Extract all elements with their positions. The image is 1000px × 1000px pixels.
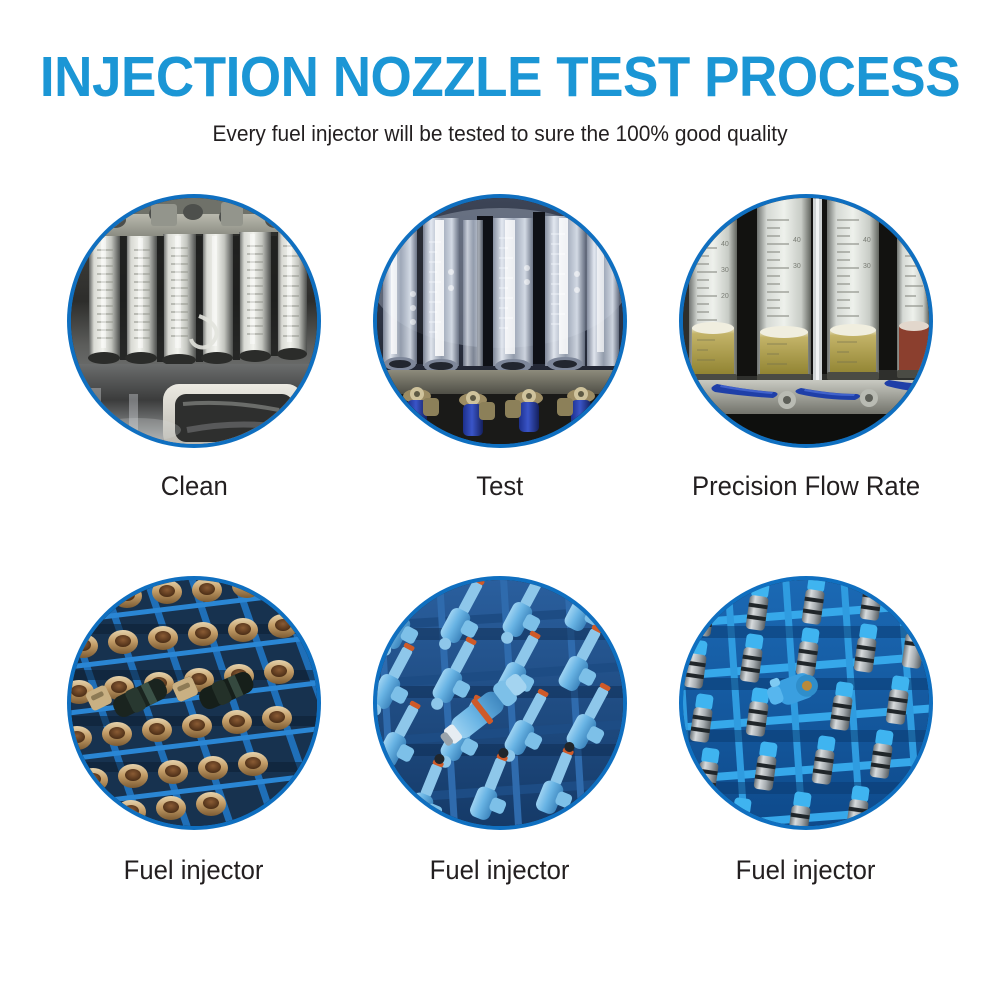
process-row-top: Clean bbox=[0, 198, 1000, 502]
step-label-test: Test bbox=[476, 470, 523, 502]
step-label-fuel-injector-blue: Fuel injector bbox=[430, 854, 570, 886]
injector-spray-test-tubes-photo bbox=[377, 198, 623, 444]
photo-frame-fuel-injector-blue bbox=[377, 580, 623, 826]
svg-text:30: 30 bbox=[863, 263, 871, 270]
photo-frame-clean bbox=[71, 198, 317, 444]
svg-text:30: 30 bbox=[721, 267, 729, 274]
svg-text:40: 40 bbox=[863, 237, 871, 244]
process-grid: Clean bbox=[0, 198, 1000, 886]
brass-top-injectors-tray-photo bbox=[71, 580, 317, 826]
steel-body-injectors-tray-photo bbox=[683, 580, 929, 826]
photo-frame-fuel-injector-steel bbox=[683, 580, 929, 826]
process-step-fuel-injector-steel: Fuel injector bbox=[653, 580, 959, 886]
photo-frame-test bbox=[377, 198, 623, 444]
process-row-bottom: Fuel injector bbox=[0, 580, 1000, 886]
header: INJECTION NOZZLE TEST PROCESS Every fuel… bbox=[0, 46, 1000, 148]
step-label-precision-flow-rate: Precision Flow Rate bbox=[692, 470, 920, 502]
photo-frame-precision-flow-rate: 40 30 20 40 30 40 30 bbox=[683, 198, 929, 444]
step-label-clean: Clean bbox=[160, 470, 227, 502]
process-step-fuel-injector-brass: Fuel injector bbox=[41, 580, 347, 886]
step-label-fuel-injector-brass: Fuel injector bbox=[124, 854, 264, 886]
graduated-cylinders-flow-photo: 40 30 20 40 30 40 30 bbox=[683, 198, 929, 444]
page-title: INJECTION NOZZLE TEST PROCESS bbox=[35, 46, 965, 108]
svg-text:30: 30 bbox=[793, 263, 801, 270]
svg-text:20: 20 bbox=[721, 293, 729, 300]
process-step-precision-flow-rate: 40 30 20 40 30 40 30 bbox=[653, 198, 959, 502]
infographic-page: INJECTION NOZZLE TEST PROCESS Every fuel… bbox=[0, 0, 1000, 1000]
ultrasonic-cleaning-tubes-photo bbox=[71, 198, 317, 444]
process-step-fuel-injector-blue: Fuel injector bbox=[347, 580, 653, 886]
photo-frame-fuel-injector-brass bbox=[71, 580, 317, 826]
process-step-clean: Clean bbox=[41, 198, 347, 502]
svg-text:40: 40 bbox=[721, 241, 729, 248]
step-label-fuel-injector-steel: Fuel injector bbox=[736, 854, 876, 886]
page-subtitle: Every fuel injector will be tested to su… bbox=[25, 120, 975, 148]
blue-body-injectors-tray-photo bbox=[377, 580, 623, 826]
process-step-test: Test bbox=[347, 198, 653, 502]
svg-text:40: 40 bbox=[793, 237, 801, 244]
